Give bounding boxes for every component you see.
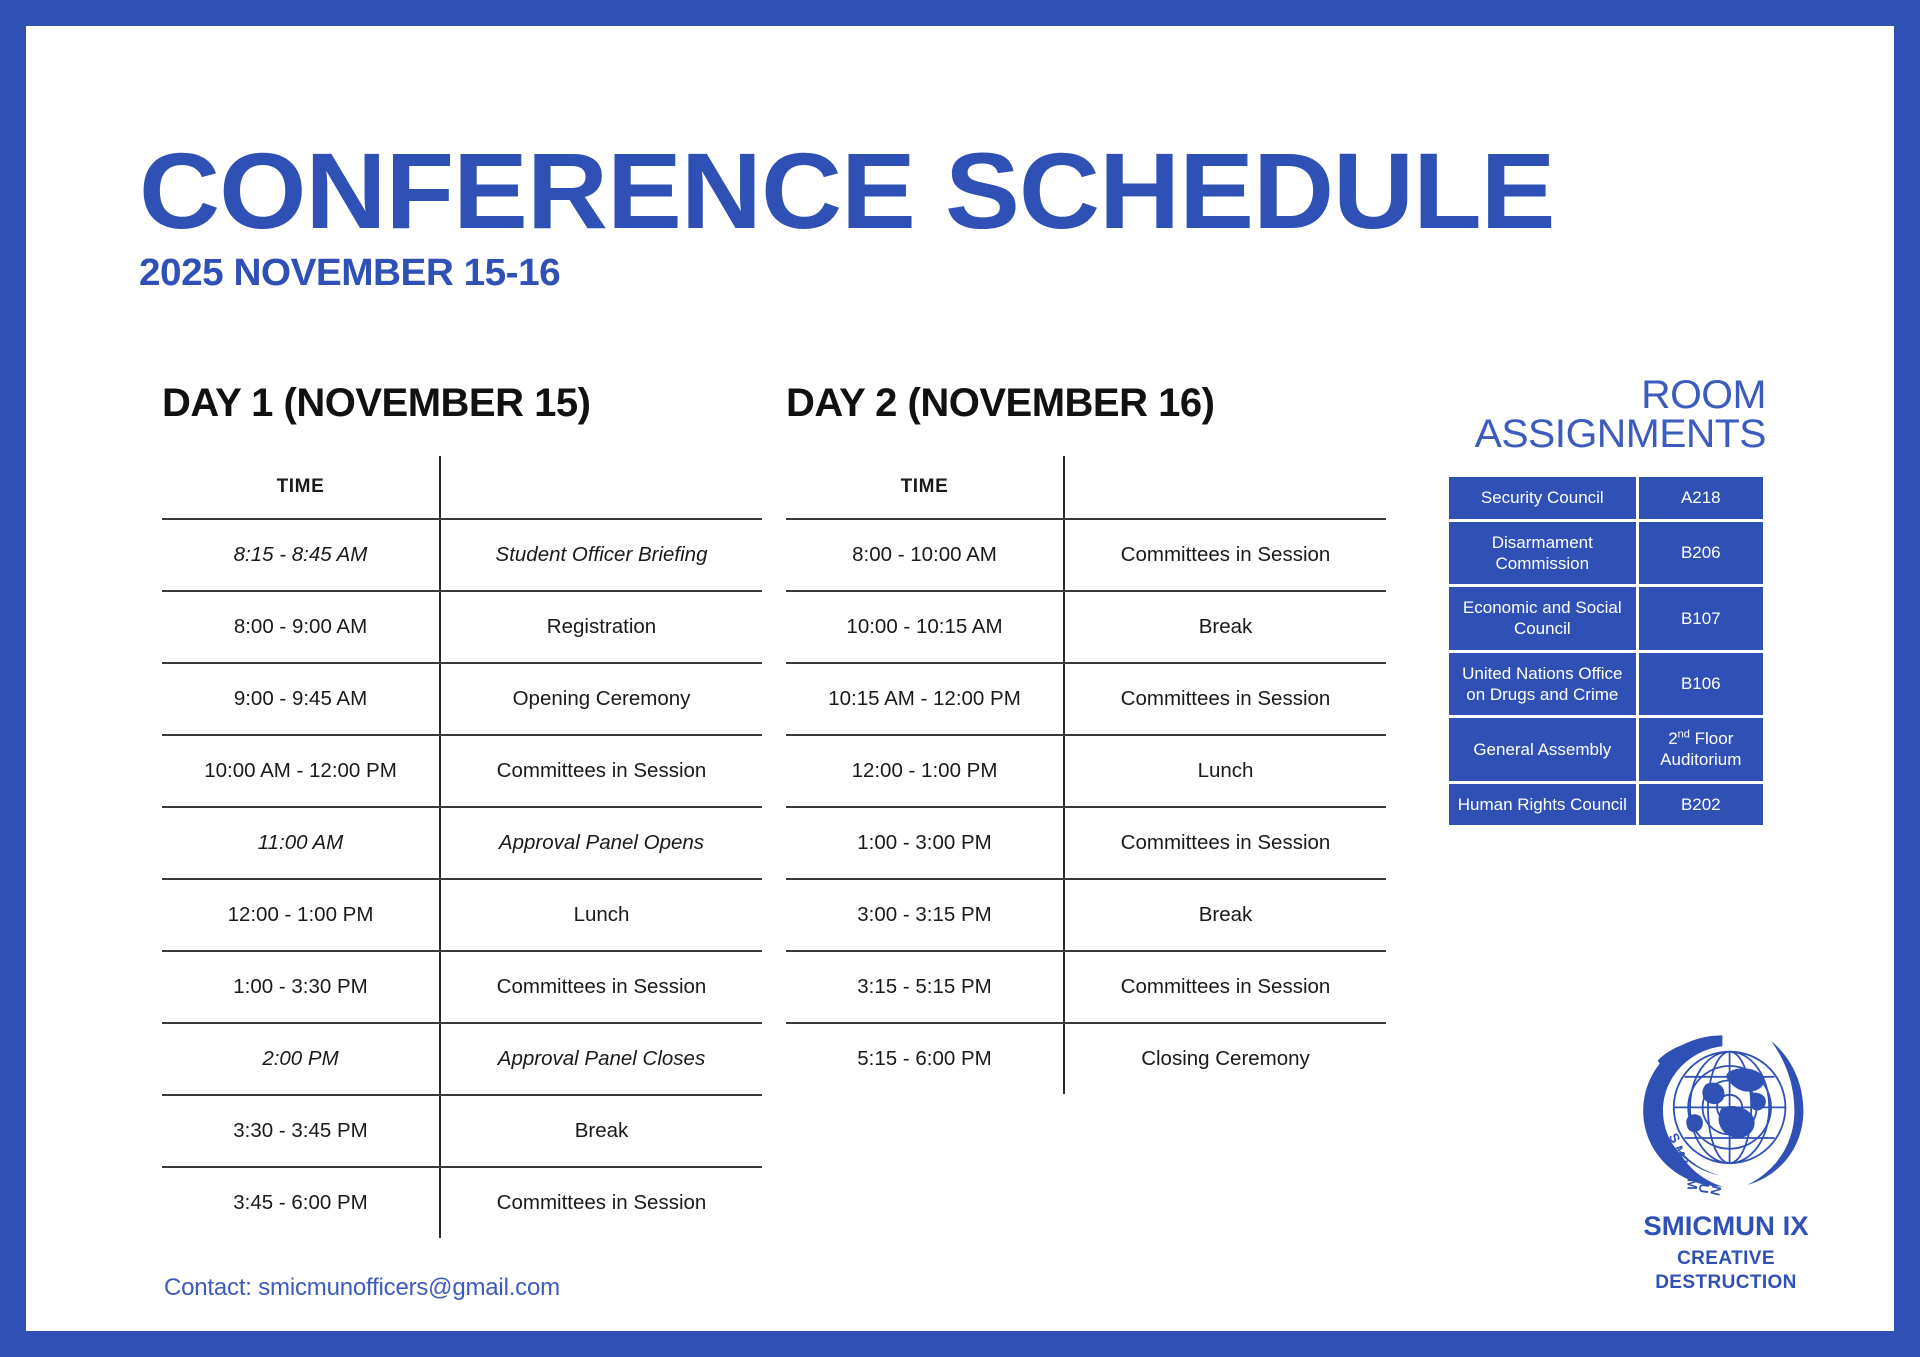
- day1-schedule-table: TIME 8:15 - 8:45 AMStudent Officer Brief…: [162, 456, 762, 1238]
- schedule-time-cell: 2:00 PM: [162, 1023, 440, 1095]
- room-assignments-table: Security CouncilA218Disarmament Commissi…: [1446, 474, 1766, 828]
- table-row: 12:00 - 1:00 PMLunch: [786, 735, 1386, 807]
- room-body-cell: Security Council: [1449, 477, 1636, 518]
- poster-canvas: CONFERENCE SCHEDULE 2025 NOVEMBER 15-16 …: [26, 26, 1894, 1331]
- page-subtitle: 2025 NOVEMBER 15-16: [139, 252, 1527, 295]
- logo-inner-text-c: C: [1679, 1166, 1695, 1178]
- room-number-cell: B202: [1639, 784, 1763, 825]
- column-header-event: [440, 456, 762, 519]
- day2-heading: DAY 2 (NOVEMBER 16): [786, 381, 1386, 426]
- schedule-time-cell: 9:00 - 9:45 AM: [162, 663, 440, 735]
- room-row: General Assembly2nd Floor Auditorium: [1449, 718, 1763, 781]
- room-body-cell: United Nations Office on Drugs and Crime: [1449, 653, 1636, 716]
- room-row: Disarmament CommissionB206: [1449, 522, 1763, 585]
- table-row: 10:00 - 10:15 AMBreak: [786, 591, 1386, 663]
- table-row: 11:00 AMApproval Panel Opens: [162, 807, 762, 879]
- schedule-event-cell: Opening Ceremony: [440, 663, 762, 735]
- schedule-time-cell: 8:15 - 8:45 AM: [162, 519, 440, 591]
- room-number-cell: A218: [1639, 477, 1763, 518]
- schedule-event-cell: Committees in Session: [440, 1167, 762, 1238]
- table-row: 3:00 - 3:15 PMBreak: [786, 879, 1386, 951]
- schedule-event-cell: Approval Panel Closes: [440, 1023, 762, 1095]
- room-assignments-heading-line2: ASSIGNMENTS: [1475, 412, 1766, 456]
- schedule-time-cell: 1:00 - 3:00 PM: [786, 807, 1064, 879]
- table-row: 10:00 AM - 12:00 PMCommittees in Session: [162, 735, 762, 807]
- room-number-cell: B106: [1639, 653, 1763, 716]
- table-header-row: TIME: [786, 456, 1386, 519]
- room-row: Economic and Social CouncilB107: [1449, 587, 1763, 650]
- contact-line: Contact: smicmunofficers@gmail.com: [164, 1274, 560, 1302]
- page-title: CONFERENCE SCHEDULE: [139, 141, 1555, 240]
- schedule-time-cell: 8:00 - 10:00 AM: [786, 519, 1064, 591]
- table-row: 8:00 - 9:00 AMRegistration: [162, 591, 762, 663]
- table-row: 8:00 - 10:00 AMCommittees in Session: [786, 519, 1386, 591]
- table-row: 2:00 PMApproval Panel Closes: [162, 1023, 762, 1095]
- schedule-time-cell: 12:00 - 1:00 PM: [786, 735, 1064, 807]
- title-block: CONFERENCE SCHEDULE 2025 NOVEMBER 15-16: [139, 141, 1500, 295]
- schedule-time-cell: 11:00 AM: [162, 807, 440, 879]
- branding-block: S M I C M U N SMICMUN IX CREATIVE DESTRU…: [1591, 1021, 1861, 1294]
- schedule-event-cell: Closing Ceremony: [1064, 1023, 1386, 1094]
- day2-schedule-table: TIME 8:00 - 10:00 AMCommittees in Sessio…: [786, 456, 1386, 1094]
- schedule-event-cell: Committees in Session: [440, 735, 762, 807]
- table-row: 9:00 - 9:45 AMOpening Ceremony: [162, 663, 762, 735]
- room-row: Human Rights CouncilB202: [1449, 784, 1763, 825]
- schedule-time-cell: 3:15 - 5:15 PM: [786, 951, 1064, 1023]
- schedule-event-cell: Committees in Session: [1064, 519, 1386, 591]
- schedule-event-cell: Lunch: [1064, 735, 1386, 807]
- schedule-event-cell: Lunch: [440, 879, 762, 951]
- room-body-cell: Economic and Social Council: [1449, 587, 1636, 650]
- schedule-time-cell: 12:00 - 1:00 PM: [162, 879, 440, 951]
- schedule-event-cell: Approval Panel Opens: [440, 807, 762, 879]
- brand-tagline-line1: CREATIVE: [1591, 1248, 1861, 1270]
- room-body-cell: Disarmament Commission: [1449, 522, 1636, 585]
- room-assignments-section: ROOM ASSIGNMENTS Security CouncilA218Dis…: [1426, 376, 1766, 828]
- table-row: 10:15 AM - 12:00 PMCommittees in Session: [786, 663, 1386, 735]
- schedule-event-cell: Committees in Session: [1064, 807, 1386, 879]
- column-header-event: [1064, 456, 1386, 519]
- table-row: 3:45 - 6:00 PMCommittees in Session: [162, 1167, 762, 1238]
- brand-tagline-line2: DESTRUCTION: [1591, 1272, 1861, 1294]
- room-number-cell: B107: [1639, 587, 1763, 650]
- room-assignments-heading-line1: ROOM: [1641, 373, 1766, 417]
- table-row: 1:00 - 3:30 PMCommittees in Session: [162, 951, 762, 1023]
- schedule-event-cell: Break: [440, 1095, 762, 1167]
- schedule-time-cell: 3:30 - 3:45 PM: [162, 1095, 440, 1167]
- brand-name: SMICMUN IX: [1588, 1211, 1863, 1242]
- schedule-event-cell: Student Officer Briefing: [440, 519, 762, 591]
- table-row: 3:15 - 5:15 PMCommittees in Session: [786, 951, 1386, 1023]
- schedule-event-cell: Committees in Session: [440, 951, 762, 1023]
- column-header-time: TIME: [786, 456, 1064, 519]
- schedule-time-cell: 3:00 - 3:15 PM: [786, 879, 1064, 951]
- table-row: 5:15 - 6:00 PMClosing Ceremony: [786, 1023, 1386, 1094]
- schedule-time-cell: 10:00 AM - 12:00 PM: [162, 735, 440, 807]
- smicmun-un-globe-dolphin-logo: S M I C M U N: [1636, 1021, 1816, 1201]
- schedule-time-cell: 10:15 AM - 12:00 PM: [786, 663, 1064, 735]
- schedule-event-cell: Break: [1064, 591, 1386, 663]
- schedule-time-cell: 8:00 - 9:00 AM: [162, 591, 440, 663]
- day1-column: DAY 1 (NOVEMBER 15) TIME 8:15 - 8:45 AMS…: [162, 381, 762, 1238]
- room-row: Security CouncilA218: [1449, 477, 1763, 518]
- room-ordinal-suffix: nd: [1678, 728, 1690, 740]
- table-row: 3:30 - 3:45 PMBreak: [162, 1095, 762, 1167]
- room-row: United Nations Office on Drugs and Crime…: [1449, 653, 1763, 716]
- table-row: 1:00 - 3:00 PMCommittees in Session: [786, 807, 1386, 879]
- column-header-time: TIME: [162, 456, 440, 519]
- schedule-event-cell: Committees in Session: [1064, 663, 1386, 735]
- schedule-event-cell: Break: [1064, 879, 1386, 951]
- schedule-event-cell: Registration: [440, 591, 762, 663]
- schedule-time-cell: 1:00 - 3:30 PM: [162, 951, 440, 1023]
- table-row: 12:00 - 1:00 PMLunch: [162, 879, 762, 951]
- room-assignments-heading: ROOM ASSIGNMENTS: [1419, 376, 1766, 454]
- table-header-row: TIME: [162, 456, 762, 519]
- table-row: 8:15 - 8:45 AMStudent Officer Briefing: [162, 519, 762, 591]
- room-number-cell: 2nd Floor Auditorium: [1639, 718, 1763, 781]
- day2-column: DAY 2 (NOVEMBER 16) TIME 8:00 - 10:00 AM…: [786, 381, 1386, 1094]
- room-body-cell: General Assembly: [1449, 718, 1636, 781]
- schedule-time-cell: 3:45 - 6:00 PM: [162, 1167, 440, 1238]
- room-body-cell: Human Rights Council: [1449, 784, 1636, 825]
- day1-heading: DAY 1 (NOVEMBER 15): [162, 381, 762, 426]
- schedule-event-cell: Committees in Session: [1064, 951, 1386, 1023]
- schedule-time-cell: 5:15 - 6:00 PM: [786, 1023, 1064, 1094]
- room-number-cell: B206: [1639, 522, 1763, 585]
- logo-inner-text-n: N: [1707, 1184, 1724, 1198]
- schedule-time-cell: 10:00 - 10:15 AM: [786, 591, 1064, 663]
